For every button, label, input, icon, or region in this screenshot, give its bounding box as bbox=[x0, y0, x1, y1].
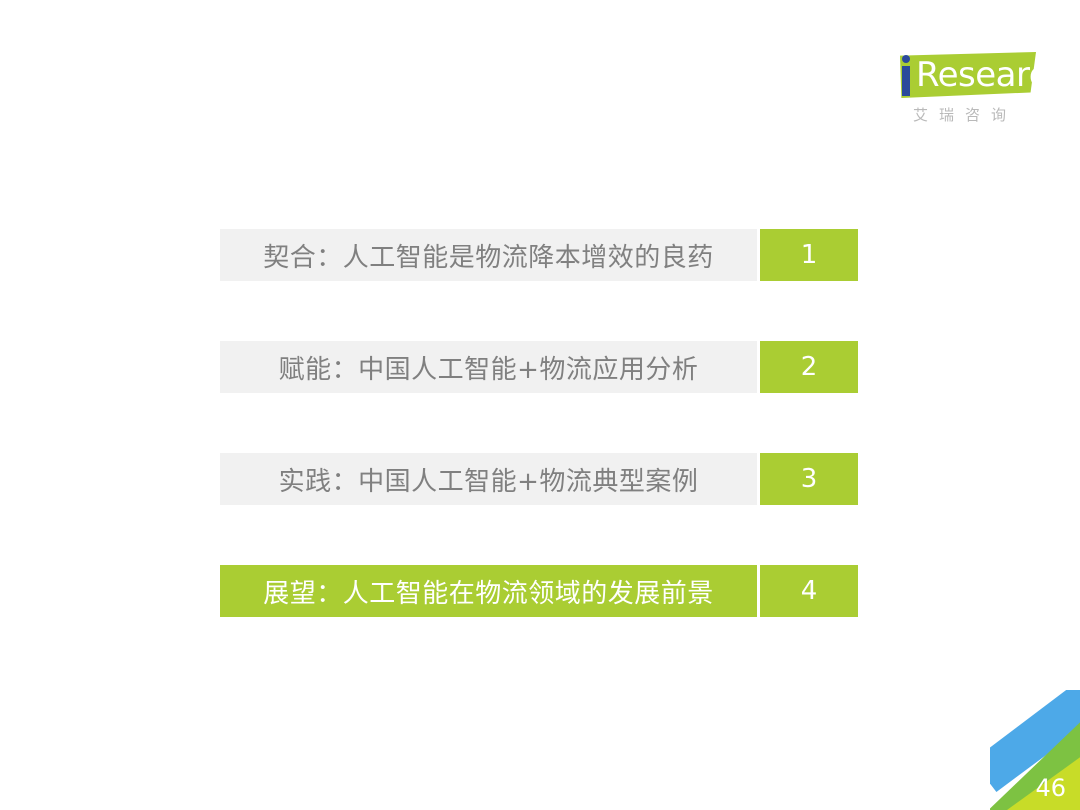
agenda-number-cell[interactable]: 2 bbox=[760, 341, 858, 393]
agenda-label-cell[interactable]: 契合：人工智能是物流降本增效的良药 bbox=[220, 229, 757, 281]
iresearch-logo: Research 艾瑞咨询 bbox=[886, 52, 1036, 130]
agenda-item-label: 契合：人工智能是物流降本增效的良药 bbox=[263, 237, 714, 274]
logo-mark: Research bbox=[886, 52, 1036, 102]
agenda-item-label: 赋能：中国人工智能+物流应用分析 bbox=[279, 349, 699, 386]
agenda-item-number: 3 bbox=[801, 464, 818, 494]
logo-subtitle: 艾瑞咨询 bbox=[894, 104, 1036, 125]
page-number: 46 bbox=[1035, 774, 1066, 802]
agenda-label-cell[interactable]: 展望：人工智能在物流领域的发展前景 bbox=[220, 565, 757, 617]
logo-wordmark: Research bbox=[916, 55, 1068, 95]
agenda-item-number: 4 bbox=[801, 576, 818, 606]
agenda-item-number: 2 bbox=[801, 352, 818, 382]
agenda-number-cell[interactable]: 3 bbox=[760, 453, 858, 505]
agenda-item-label: 实践：中国人工智能+物流典型案例 bbox=[279, 461, 699, 498]
agenda-number-cell[interactable]: 4 bbox=[760, 565, 858, 617]
agenda-row[interactable]: 赋能：中国人工智能+物流应用分析 2 bbox=[220, 341, 858, 393]
agenda-label-cell[interactable]: 赋能：中国人工智能+物流应用分析 bbox=[220, 341, 757, 393]
logo-i-dot-icon bbox=[902, 55, 910, 63]
agenda-item-number: 1 bbox=[801, 240, 818, 270]
agenda-row-active[interactable]: 展望：人工智能在物流领域的发展前景 4 bbox=[220, 565, 858, 617]
agenda-item-label: 展望：人工智能在物流领域的发展前景 bbox=[263, 573, 714, 610]
agenda-label-cell[interactable]: 实践：中国人工智能+物流典型案例 bbox=[220, 453, 757, 505]
agenda-row[interactable]: 契合：人工智能是物流降本增效的良药 1 bbox=[220, 229, 858, 281]
agenda-number-cell[interactable]: 1 bbox=[760, 229, 858, 281]
agenda-row[interactable]: 实践：中国人工智能+物流典型案例 3 bbox=[220, 453, 858, 505]
agenda-list: 契合：人工智能是物流降本增效的良药 1 赋能：中国人工智能+物流应用分析 2 实… bbox=[220, 229, 858, 617]
slide-canvas: Research 艾瑞咨询 契合：人工智能是物流降本增效的良药 1 赋能：中国人… bbox=[0, 0, 1080, 810]
logo-i-stem-icon bbox=[902, 66, 910, 96]
